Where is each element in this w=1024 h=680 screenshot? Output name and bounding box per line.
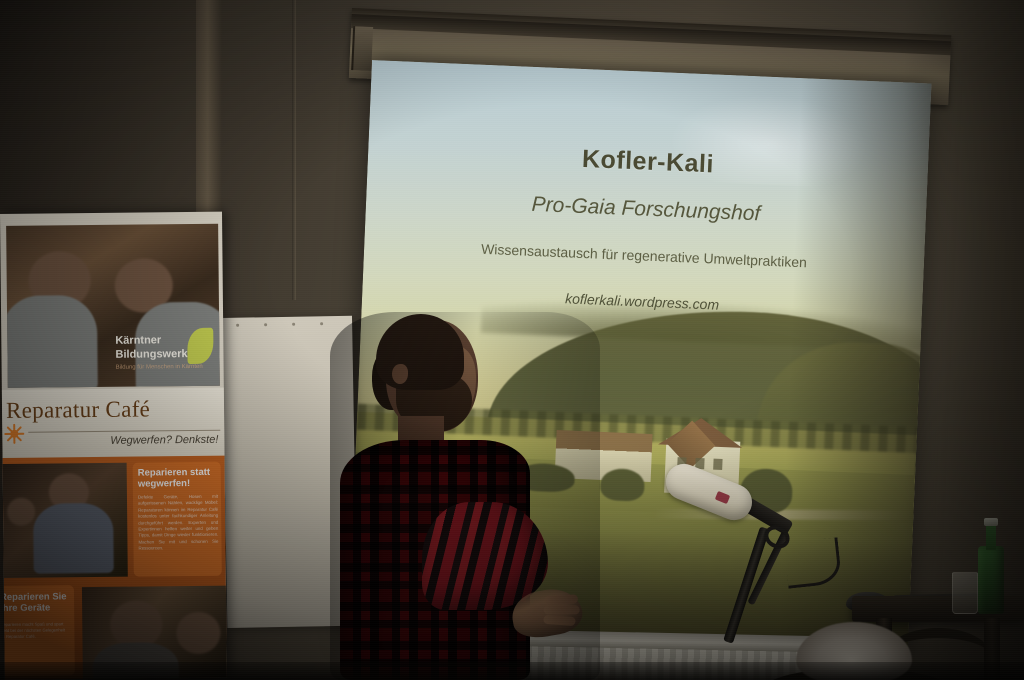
flipchart-hole [264, 323, 267, 326]
presenter-hair [376, 314, 464, 390]
farmhouse-window [713, 459, 722, 470]
flipchart-hole [292, 323, 295, 326]
presenter-ear [392, 364, 408, 384]
logo-line-1: Kärntner [115, 334, 193, 347]
banner-brand-title: Reparatur Café [6, 396, 222, 424]
banner-person-head [110, 600, 162, 649]
photo-scene: Kofler-Kali Pro-Gaia Forschungshof Wisse… [0, 0, 1024, 680]
presenter [330, 312, 600, 680]
banner-card2-title: Reparieren Sie Ihre Geräte [0, 591, 70, 615]
wall-seam [292, 0, 296, 300]
logo-line-2: Bildungswerk [115, 348, 201, 361]
banner-tagline: Wegwerfen? Denkste! [38, 434, 218, 448]
housing-bracket [351, 26, 373, 71]
banner-info-card: Reparieren statt wegwerfen! Defekte Gerä… [133, 462, 222, 577]
microphone-cable [784, 537, 843, 588]
sun-icon [4, 424, 24, 444]
logo-subline: Bildung für Menschen in Kärnten [116, 364, 212, 371]
banner-person-shirt [6, 295, 98, 388]
finger [543, 615, 576, 626]
finger [544, 594, 579, 605]
banner-lower-panel: Reparieren statt wegwerfen! Defekte Gerä… [3, 456, 227, 680]
microphone [660, 470, 860, 650]
kaerntner-bildungswerk-logo: Kärntner Bildungswerk Bildung für Mensch… [115, 328, 216, 381]
banner-brand-strip: Reparatur Café Wegwerfen? Denkste! [2, 388, 225, 458]
banner-photo-repair: Kärntner Bildungswerk Bildung für Mensch… [6, 224, 220, 388]
banner-person-shirt [33, 503, 114, 574]
banner-card2-body: Reparieren macht Spaß und spart Geld bei… [0, 621, 66, 639]
banner-card-title: Reparieren statt wegwerfen! [138, 467, 218, 490]
wall-corner-left [196, 0, 222, 232]
sun-core [10, 430, 18, 438]
finger [544, 605, 580, 614]
banner-photo-workshop [3, 463, 128, 578]
banner-person-head [7, 498, 35, 526]
wall-shadow-right [904, 0, 1024, 680]
banner-person-head [176, 612, 220, 654]
floor-shadow [0, 662, 1024, 680]
banner-divider [28, 430, 220, 433]
flipchart-hole [320, 322, 323, 325]
flipchart-hole [236, 324, 239, 327]
rollup-banner: Kärntner Bildungswerk Bildung für Mensch… [0, 212, 227, 680]
banner-card-body: Defekte Geräte, Hosen mit aufgerissenen … [138, 494, 219, 552]
